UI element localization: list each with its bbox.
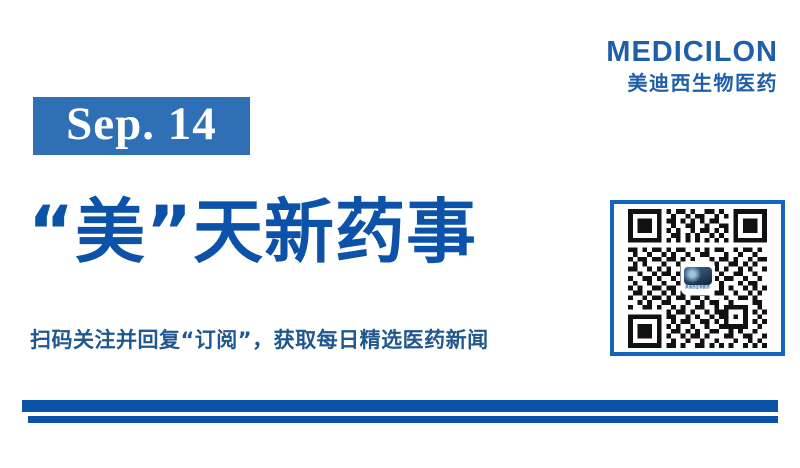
- date-badge: Sep. 14: [33, 97, 250, 155]
- headline: “美”天新药事: [28, 182, 598, 282]
- subtitle: 扫码关注并回复“订阅”，获取每日精选医药新闻: [30, 328, 590, 353]
- qr-center-logo-image: [684, 267, 712, 285]
- headline-text: “美”天新药事: [28, 197, 477, 267]
- brand-logo: MEDICILON 美迪西生物医药: [606, 38, 778, 93]
- qr-code-image: 美迪西生物医药: [628, 209, 767, 348]
- bottom-rule-thick: [22, 400, 778, 412]
- brand-name-chinese: 美迪西生物医药: [606, 73, 778, 93]
- poster-canvas: MEDICILON 美迪西生物医药 Sep. 14 “美”天新药事 扫码关注并回…: [0, 0, 800, 468]
- qr-center-logo: 美迪西生物医药: [681, 261, 715, 295]
- subtitle-text: 扫码关注并回复“订阅”，获取每日精选医药新闻: [30, 328, 489, 352]
- qr-center-logo-caption: 美迪西生物医药: [685, 286, 709, 289]
- brand-name: MEDICILON: [606, 38, 778, 67]
- qr-code-box[interactable]: 美迪西生物医药: [610, 200, 785, 356]
- date-badge-label: Sep. 14: [66, 101, 217, 148]
- bottom-rule-thin: [28, 416, 778, 423]
